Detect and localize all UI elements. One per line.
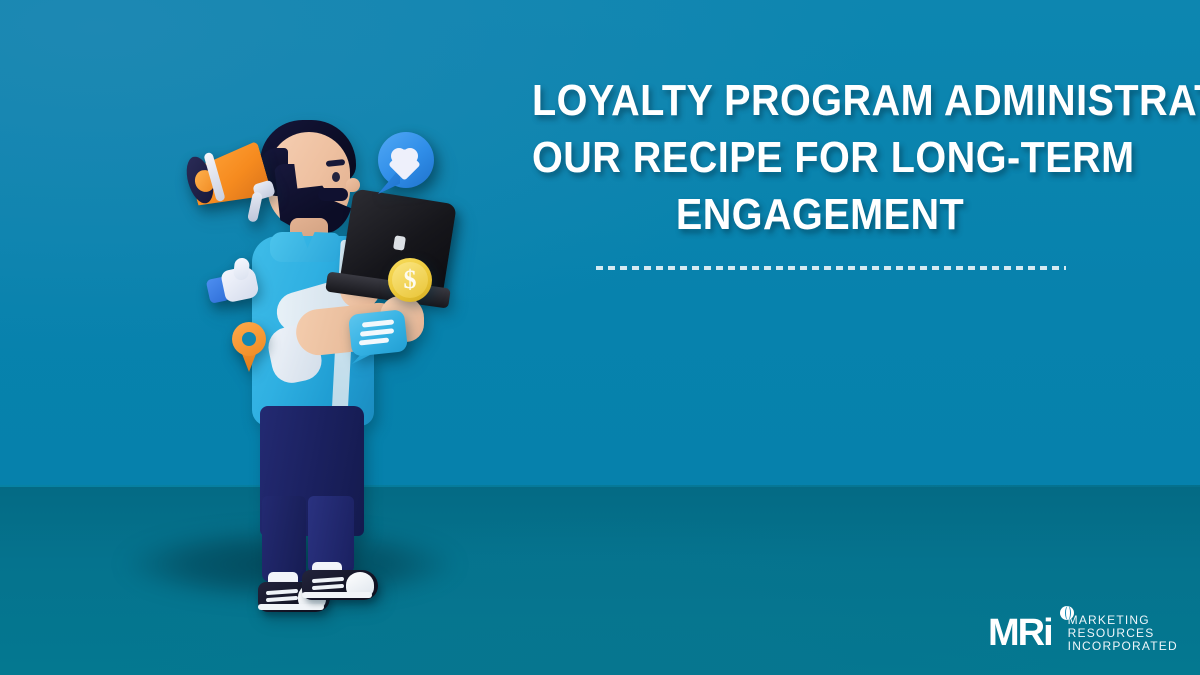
eye xyxy=(332,172,340,182)
megaphone-icon xyxy=(186,142,282,226)
slide-canvas: LOYALTY PROGRAM ADMINISTRATION: OUR RECI… xyxy=(0,0,1200,675)
logo-wordmark: MRi xyxy=(988,613,1052,653)
brand-logo: MRi MARKETING RESOURCES INCORPORATED xyxy=(988,606,1152,660)
hero-illustration: $ xyxy=(150,110,470,530)
chat-bubble-icon xyxy=(346,312,408,370)
logo-tagline-line-2: RESOURCES xyxy=(1068,627,1178,640)
shoe-right-sole xyxy=(302,592,372,598)
headline-line-3: ENGAGEMENT xyxy=(532,186,1108,243)
thumbs-up-icon xyxy=(208,258,266,310)
laptop-logo-mark xyxy=(393,235,406,251)
location-pin-icon xyxy=(228,322,270,376)
page-title: LOYALTY PROGRAM ADMINISTRATION: OUR RECI… xyxy=(500,72,1140,243)
heart-speech-bubble-icon xyxy=(372,132,436,198)
mustache xyxy=(318,188,348,201)
logo-tagline: MARKETING RESOURCES INCORPORATED xyxy=(1068,614,1178,653)
dashed-divider xyxy=(596,266,1066,270)
dollar-coin-icon: $ xyxy=(388,258,432,302)
leg-left xyxy=(262,496,306,582)
shoe-left-sole xyxy=(258,604,324,610)
dollar-symbol: $ xyxy=(388,258,432,302)
logo-tagline-line-1: MARKETING xyxy=(1068,614,1178,627)
headline-line-2: OUR RECIPE FOR LONG-TERM xyxy=(532,129,1108,186)
logo-tagline-line-3: INCORPORATED xyxy=(1068,640,1178,653)
globe-icon xyxy=(1060,606,1074,620)
headline-line-1: LOYALTY PROGRAM ADMINISTRATION: xyxy=(532,72,1108,129)
